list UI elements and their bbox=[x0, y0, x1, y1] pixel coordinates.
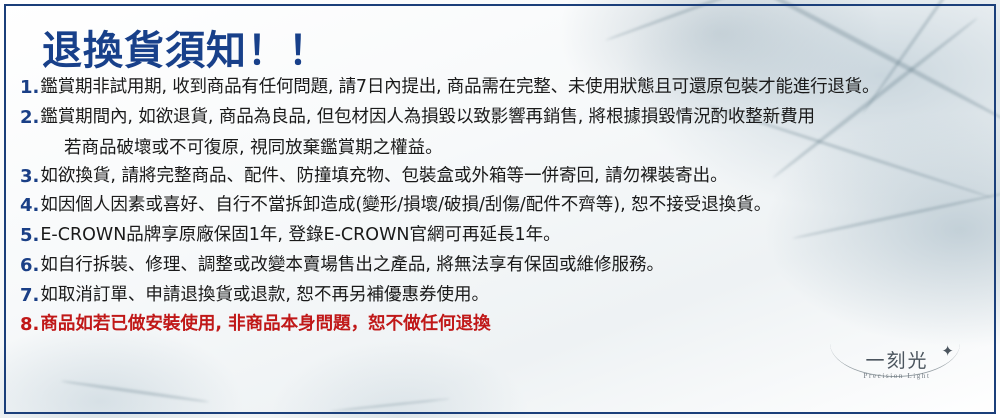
list-item-number: 3. bbox=[20, 165, 40, 189]
list-item-number: 8. bbox=[20, 313, 40, 337]
list-item-number: 5. bbox=[20, 224, 40, 248]
list-item-text: 如因個人因素或喜好、自行不當拆卸造成(變形/損壞/破損/刮傷/配件不齊等), 恕… bbox=[40, 194, 980, 217]
list-item: 6. 如自行拆裝、修理、調整或改變本賣場售出之產品, 將無法享有保固或維修服務。 bbox=[20, 254, 980, 278]
list-item: 3. 如欲換貨, 請將完整商品、配件、防撞填充物、包裝盒或外箱等一併寄回, 請勿… bbox=[20, 165, 980, 189]
list-item-number: 1. bbox=[20, 76, 40, 100]
list-item: 1. 鑑賞期非試用期, 收到商品有任何問題, 請7日內提出, 商品需在完整、未使… bbox=[20, 76, 980, 100]
list-item: 7. 如取消訂單、申請退換貨或退款, 恕不再另補優惠券使用。 bbox=[20, 284, 980, 308]
list-item: 5. E-CROWN品牌享原廠保固1年, 登錄E-CROWN官網可再延長1年。 bbox=[20, 224, 980, 248]
list-item-continuation: 若商品破壞或不可復原, 視同放棄鑑賞期之權益。 bbox=[64, 134, 980, 159]
list-item-number: 6. bbox=[20, 254, 40, 278]
policy-content: 退換貨須知！！ 1. 鑑賞期非試用期, 收到商品有任何問題, 請7日內提出, 商… bbox=[0, 0, 1000, 418]
list-item: 4. 如因個人因素或喜好、自行不當拆卸造成(變形/損壞/破損/刮傷/配件不齊等)… bbox=[20, 194, 980, 218]
list-item-text: 如自行拆裝、修理、調整或改變本賣場售出之產品, 將無法享有保固或維修服務。 bbox=[40, 254, 980, 277]
return-policy-banner: 退換貨須知！！ 1. 鑑賞期非試用期, 收到商品有任何問題, 請7日內提出, 商… bbox=[0, 0, 1000, 418]
list-item-number: 7. bbox=[20, 284, 40, 308]
list-item: 2. 鑑賞期間內, 如欲退貨, 商品為良品, 但包材因人為損毀以致影響再銷售, … bbox=[20, 106, 980, 130]
list-item-text: 鑑賞期間內, 如欲退貨, 商品為良品, 但包材因人為損毀以致影響再銷售, 將根據… bbox=[40, 106, 980, 129]
sparkle-icon: ✦ bbox=[941, 342, 954, 360]
list-item-number: 2. bbox=[20, 106, 40, 130]
list-item-text: E-CROWN品牌享原廠保固1年, 登錄E-CROWN官網可再延長1年。 bbox=[40, 224, 980, 247]
list-item-text: 如欲換貨, 請將完整商品、配件、防撞填充物、包裝盒或外箱等一併寄回, 請勿裸裝寄… bbox=[40, 165, 980, 188]
page-title: 退換貨須知！！ bbox=[42, 18, 329, 76]
brand-watermark: 一刻光 ✦ Precision Light bbox=[822, 328, 972, 398]
policy-list: 1. 鑑賞期非試用期, 收到商品有任何問題, 請7日內提出, 商品需在完整、未使… bbox=[20, 76, 980, 343]
list-item-text: 鑑賞期非試用期, 收到商品有任何問題, 請7日內提出, 商品需在完整、未使用狀態… bbox=[40, 76, 980, 99]
brand-name-en: Precision Light bbox=[822, 372, 972, 380]
list-item-number: 4. bbox=[20, 194, 40, 218]
list-item-text: 如取消訂單、申請退換貨或退款, 恕不再另補優惠券使用。 bbox=[40, 284, 980, 307]
